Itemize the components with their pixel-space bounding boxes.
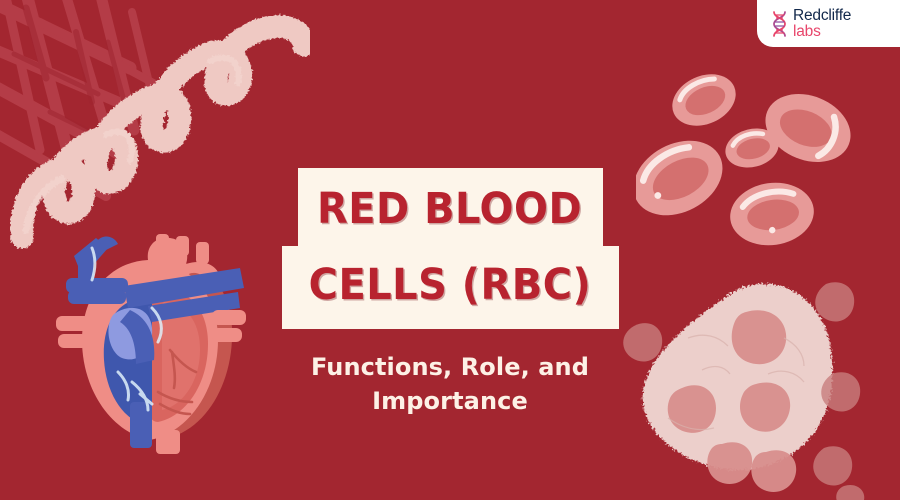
subtitle-block: Functions, Role, and Importance (0, 350, 900, 418)
title-line-2: CELLS (RBC) (309, 260, 592, 310)
subtitle-line-1: Functions, Role, and (0, 350, 900, 384)
title-line-1: RED BLOOD (317, 184, 582, 234)
dna-helix-icon (771, 11, 788, 37)
brand-name-primary: Redcliffe (793, 8, 851, 24)
subtitle-line-2: Importance (0, 384, 900, 418)
title-block: RED BLOOD CELLS (RBC) (0, 168, 900, 329)
brand-logo-badge[interactable]: Redcliffe labs (757, 0, 900, 47)
title-band-top: RED BLOOD (298, 168, 603, 246)
brand-wordmark: Redcliffe labs (793, 8, 851, 40)
poster-canvas: Redcliffe labs RED BLOOD CELLS (RBC) Fun… (0, 0, 900, 500)
title-band-bottom: CELLS (RBC) (282, 246, 619, 329)
brand-name-secondary: labs (793, 24, 851, 40)
